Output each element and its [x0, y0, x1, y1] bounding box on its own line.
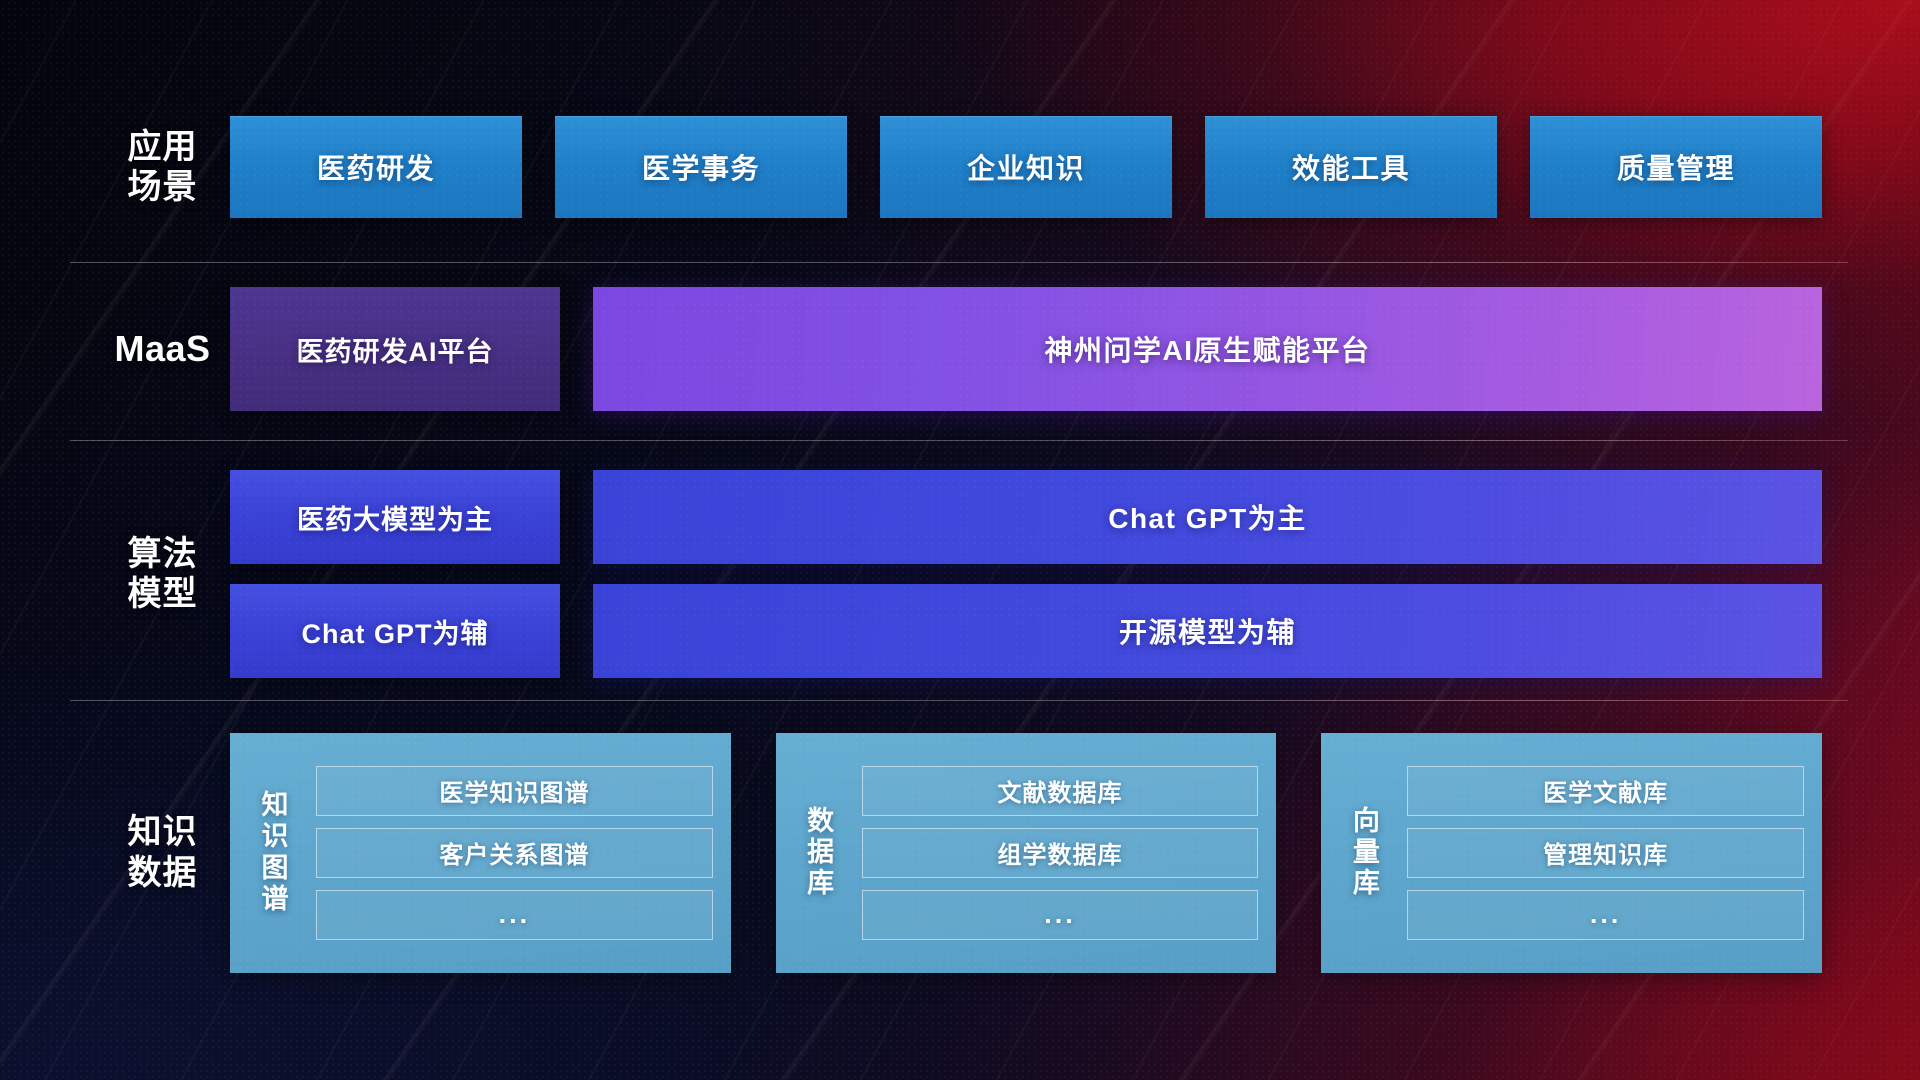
algorithm-line-primary: 医药大模型为主 Chat GPT为主 [230, 470, 1822, 564]
row-label-maas: MaaS [95, 328, 230, 370]
knowledge-panel-items: 文献数据库 组学数据库 ... [862, 766, 1259, 940]
knowledge-panel-vector-store[interactable]: 向 量 库 医学文献库 管理知识库 ... [1321, 733, 1822, 973]
algorithm-line-secondary: Chat GPT为辅 开源模型为辅 [230, 584, 1822, 678]
row-label-algorithm: 算法 模型 [95, 534, 230, 614]
divider-algorithm-knowledge [70, 700, 1848, 701]
app-card-label: 医学事务 [642, 147, 760, 187]
algo-card-chatgpt-secondary[interactable]: Chat GPT为辅 [230, 584, 560, 678]
row-algorithm-models: 算法 模型 医药大模型为主 Chat GPT为主 Chat GPT为辅 开源模型… [95, 470, 1822, 678]
algo-card-opensource-secondary[interactable]: 开源模型为辅 [593, 584, 1822, 678]
row-label-application: 应用 场景 [95, 127, 230, 207]
knowledge-item-more[interactable]: ... [316, 890, 713, 940]
application-grid: 医药研发 医学事务 企业知识 效能工具 质量管理 [230, 116, 1822, 218]
knowledge-item-customer-graph[interactable]: 客户关系图谱 [316, 828, 713, 878]
knowledge-panel-vertical-label: 知 识 图 谱 [244, 790, 306, 915]
knowledge-grid: 知 识 图 谱 医学知识图谱 客户关系图谱 ... 数 据 库 文献数据库 组学… [230, 733, 1822, 973]
maas-card-drug-ai-platform[interactable]: 医药研发AI平台 [230, 287, 560, 411]
algo-label: Chat GPT为辅 [301, 612, 488, 651]
app-card-enterprise-knowledge[interactable]: 企业知识 [880, 116, 1172, 218]
divider-application-maas [70, 262, 1848, 263]
algo-label: 医药大模型为主 [297, 498, 493, 537]
knowledge-item-literature-db[interactable]: 文献数据库 [862, 766, 1259, 816]
algo-card-pharma-llm-primary[interactable]: 医药大模型为主 [230, 470, 560, 564]
knowledge-item-management-knowledge[interactable]: 管理知识库 [1407, 828, 1804, 878]
knowledge-panel-knowledge-graph[interactable]: 知 识 图 谱 医学知识图谱 客户关系图谱 ... [230, 733, 731, 973]
divider-maas-algorithm [70, 440, 1848, 441]
knowledge-item-more[interactable]: ... [862, 890, 1259, 940]
app-card-drug-rd[interactable]: 医药研发 [230, 116, 522, 218]
algo-card-chatgpt-primary[interactable]: Chat GPT为主 [593, 470, 1822, 564]
algo-label: Chat GPT为主 [1108, 497, 1307, 537]
row-knowledge-data: 知识 数据 知 识 图 谱 医学知识图谱 客户关系图谱 ... 数 据 库 [95, 730, 1822, 975]
knowledge-container: 知 识 图 谱 医学知识图谱 客户关系图谱 ... 数 据 库 文献数据库 组学… [230, 733, 1822, 973]
algo-label: 开源模型为辅 [1119, 611, 1296, 651]
knowledge-item-medical-graph[interactable]: 医学知识图谱 [316, 766, 713, 816]
knowledge-item-omics-db[interactable]: 组学数据库 [862, 828, 1259, 878]
knowledge-panel-vertical-label: 数 据 库 [790, 806, 852, 900]
algorithm-stack: 医药大模型为主 Chat GPT为主 Chat GPT为辅 开源模型为辅 [230, 470, 1822, 678]
app-card-label: 效能工具 [1292, 147, 1410, 187]
knowledge-panel-items: 医学知识图谱 客户关系图谱 ... [316, 766, 713, 940]
knowledge-panel-vertical-label: 向 量 库 [1335, 806, 1397, 900]
row-maas: MaaS 医药研发AI平台 神州问学AI原生赋能平台 [95, 290, 1822, 408]
knowledge-item-more[interactable]: ... [1407, 890, 1804, 940]
maas-left-label: 医药研发AI平台 [297, 330, 494, 369]
knowledge-item-medical-literature[interactable]: 医学文献库 [1407, 766, 1804, 816]
knowledge-panel-database[interactable]: 数 据 库 文献数据库 组学数据库 ... [776, 733, 1277, 973]
maas-card-shenzhou-platform[interactable]: 神州问学AI原生赋能平台 [593, 287, 1822, 411]
application-cards-container: 医药研发 医学事务 企业知识 效能工具 质量管理 [230, 116, 1822, 218]
row-label-knowledge: 知识 数据 [95, 812, 230, 892]
app-card-label: 医药研发 [317, 147, 435, 187]
knowledge-panel-items: 医学文献库 管理知识库 ... [1407, 766, 1804, 940]
architecture-diagram: 应用 场景 医药研发 医学事务 企业知识 效能工具 质量管理 MaaS 医药研发… [0, 0, 1920, 1080]
maas-container: 医药研发AI平台 神州问学AI原生赋能平台 [230, 287, 1822, 411]
slide-canvas: 应用 场景 医药研发 医学事务 企业知识 效能工具 质量管理 MaaS 医药研发… [0, 0, 1920, 1080]
app-card-label: 企业知识 [967, 147, 1085, 187]
maas-right-label: 神州问学AI原生赋能平台 [1044, 329, 1370, 369]
row-application-scenarios: 应用 场景 医药研发 医学事务 企业知识 效能工具 质量管理 [95, 108, 1822, 226]
algorithm-container: 医药大模型为主 Chat GPT为主 Chat GPT为辅 开源模型为辅 [230, 470, 1822, 678]
app-card-label: 质量管理 [1617, 147, 1735, 187]
maas-grid: 医药研发AI平台 神州问学AI原生赋能平台 [230, 287, 1822, 411]
app-card-efficiency-tools[interactable]: 效能工具 [1205, 116, 1497, 218]
app-card-quality-management[interactable]: 质量管理 [1530, 116, 1822, 218]
app-card-medical-affairs[interactable]: 医学事务 [555, 116, 847, 218]
